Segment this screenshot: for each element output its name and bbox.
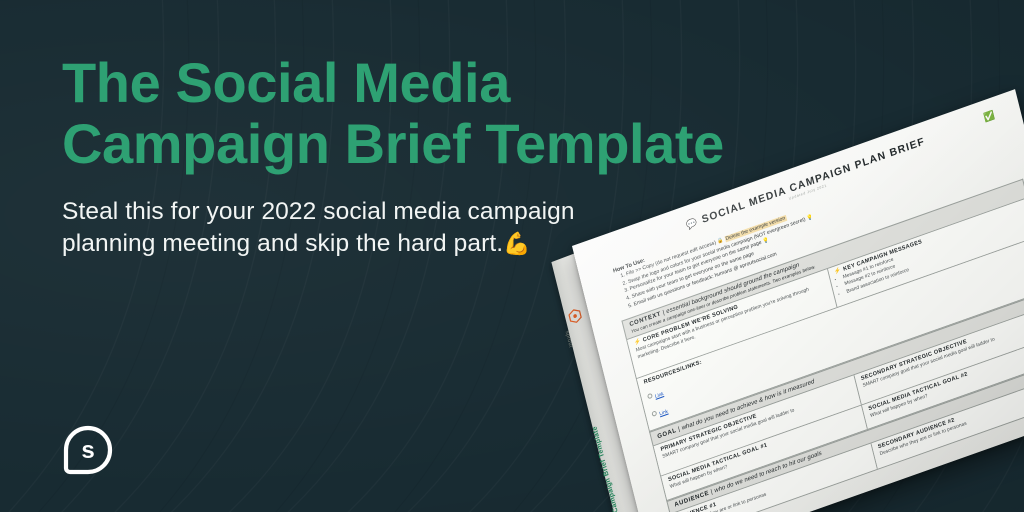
cell-body: What will happen by when? <box>870 347 1024 420</box>
headline-line-2: Campaign Brief Template <box>62 113 762 174</box>
band-desc: who do we need to reach to hit our goals <box>714 450 823 495</box>
band-title: AUDIENCE <box>674 490 710 509</box>
table-row: AUDIENCE #1 Describe who they are or lin… <box>670 371 1024 512</box>
sprout-social-logo[interactable]: s <box>62 424 114 476</box>
cell-audience-2: SECONDARY AUDIENCE #2 Describe who they … <box>871 373 1024 469</box>
cell-secondary-strategic-objective: SECONDARY STRATEGIC OBJECTIVE SMART comp… <box>854 304 1024 404</box>
hero-copy: The Social Media Campaign Brief Template… <box>62 52 762 261</box>
band-desc: what do you need to achieve & how is it … <box>681 378 815 432</box>
cell-title-text: CORE PROBLEM WE'RE SOLVING <box>642 305 738 344</box>
cell-body: Describe who they are or link to persona… <box>679 456 869 512</box>
cell-title-text: KEY CAMPAIGN MESSAGES <box>843 239 923 273</box>
cell-audience-1: AUDIENCE #1 Describe who they are or lin… <box>671 443 878 512</box>
subhead-line-2: planning meeting and skip the hard part. <box>62 230 503 257</box>
subhead-line-2-wrap: planning meeting and skip the hard part.… <box>62 228 762 260</box>
cell-body: Most campaigns start with a business or … <box>636 282 827 362</box>
band-title: CONTEXT <box>629 311 662 329</box>
radio-bullet[interactable] <box>651 410 657 417</box>
cell-tactical-goal-2: SOCIAL MEDIA TACTICAL GOAL #2 What will … <box>861 335 1024 429</box>
flexed-biceps-icon: 💪 <box>503 232 531 257</box>
lightning-icon: ⚡ <box>834 268 842 276</box>
cell-body: Message #1 to reinforce Message #2 to re… <box>836 211 1024 299</box>
resource-link[interactable]: Link <box>659 410 669 418</box>
spine-brand-label: sprout <box>564 330 587 400</box>
cell-body: SMART company goal that your social medi… <box>862 317 1024 390</box>
cell-body: Describe who they are or link to persona… <box>879 385 1024 458</box>
table-row: PRIMARY STRATEGIC OBJECTIVE SMART compan… <box>652 303 1024 476</box>
list-item: Message #2 to reinforce <box>844 218 1024 289</box>
cell-title: ⚡ KEY CAMPAIGN MESSAGES <box>834 204 1024 276</box>
cell-body: What will happen by when? <box>669 418 859 491</box>
cell-tactical-goal-1: SOCIAL MEDIA TACTICAL GOAL #1 What will … <box>661 405 867 499</box>
cell-title: ⚡ CORE PROBLEM WE'RE SOLVING <box>634 275 824 347</box>
document-spine: sprout The Social Media Campaign Brief T… <box>551 252 658 512</box>
subhead-line-1: Steal this for your 2022 social media ca… <box>62 196 762 228</box>
radio-bullet[interactable] <box>647 392 653 399</box>
list-item: Brand association to reinforce <box>846 225 1024 296</box>
lightning-icon: ⚡ <box>634 339 642 347</box>
cell-title: SOCIAL MEDIA TACTICAL GOAL #2 <box>868 340 1024 412</box>
cell-core-problem: ⚡ CORE PROBLEM WE'RE SOLVING Most campai… <box>627 269 837 378</box>
cell-body: SMART company goal that your social medi… <box>662 388 852 461</box>
logo-letter: s <box>81 437 94 464</box>
table-row: SOCIAL MEDIA TACTICAL GOAL #1 What will … <box>660 334 1024 501</box>
hero-subhead: Steal this for your 2022 social media ca… <box>62 196 762 261</box>
spine-hexagon-icon <box>567 307 584 326</box>
cell-title: AUDIENCE #1 <box>677 449 867 512</box>
checkmark-icon: ✅ <box>983 109 996 123</box>
table-row: RESOURCES/LINKS: Link Link <box>636 237 1024 432</box>
cell-title: SECONDARY STRATEGIC OBJECTIVE <box>860 310 1024 382</box>
cell-title: SECONDARY AUDIENCE #2 <box>878 378 1024 450</box>
cell-resources-links: RESOURCES/LINKS: Link Link <box>637 237 1024 431</box>
bullet-list: Message #1 to reinforce Message #2 to re… <box>836 211 1024 299</box>
resource-link-list: Link Link <box>645 251 1024 424</box>
cell-key-messages: ⚡ KEY CAMPAIGN MESSAGES Message #1 to re… <box>828 198 1024 307</box>
section-band-audience: AUDIENCE | who do we need to reach to hi… <box>666 359 1024 512</box>
band-title: GOAL <box>657 427 678 441</box>
section-band-goal: GOAL | what do you need to achieve & how… <box>649 290 1024 445</box>
spine-title-label: The Social Media Campaign Brief Template <box>580 377 635 512</box>
document-mockup: sprout The Social Media Campaign Brief T… <box>572 246 1024 512</box>
cell-title: RESOURCES/LINKS: <box>643 243 1024 386</box>
cell-primary-strategic-objective: PRIMARY STRATEGIC OBJECTIVE SMART compan… <box>654 375 862 475</box>
resource-link[interactable]: Link <box>655 392 665 400</box>
cell-title: SOCIAL MEDIA TACTICAL GOAL #1 <box>668 411 858 483</box>
list-item: Message #1 to reinforce <box>842 211 1024 282</box>
page-title: The Social Media Campaign Brief Template <box>62 52 762 174</box>
headline-line-1: The Social Media <box>62 52 762 113</box>
band-desc: essential background should ground the c… <box>666 262 801 316</box>
promo-banner: The Social Media Campaign Brief Template… <box>0 0 1024 512</box>
cell-title: PRIMARY STRATEGIC OBJECTIVE <box>660 381 850 453</box>
